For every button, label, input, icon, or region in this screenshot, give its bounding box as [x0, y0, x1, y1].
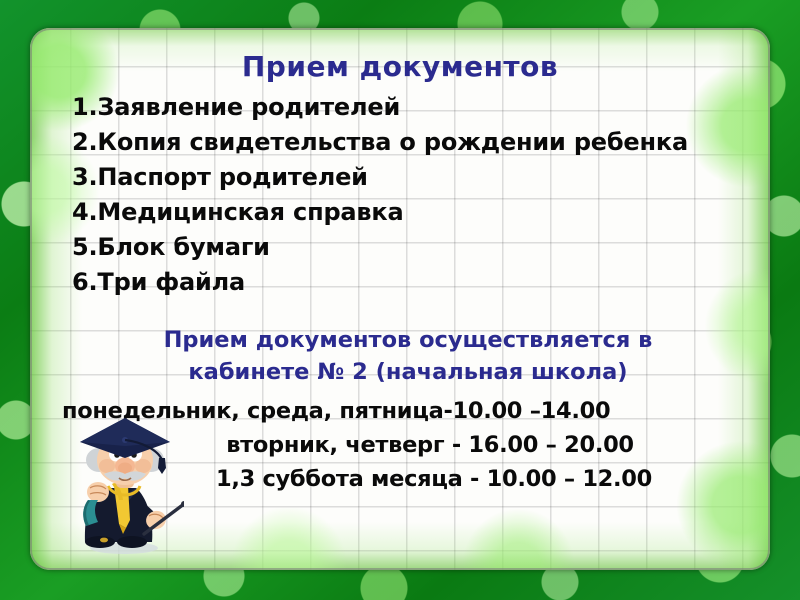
professor-graduate-icon [66, 416, 184, 556]
slide-canvas: Прием документов 1.Заявление родителей 2… [0, 0, 800, 600]
list-item: 1.Заявление родителей [72, 90, 760, 125]
slide-content: Прием документов 1.Заявление родителей 2… [30, 28, 770, 570]
documents-list: 1.Заявление родителей 2.Копия свидетельс… [72, 90, 760, 300]
notice-line-1: Прием документов осуществляется в [90, 324, 726, 356]
list-item: 5.Блок бумаги [72, 230, 760, 265]
grid-paper-panel: Прием документов 1.Заявление родителей 2… [30, 28, 770, 570]
notice-line-2: кабинете № 2 (начальная школа) [90, 356, 726, 388]
list-item: 6.Три файла [72, 265, 760, 300]
notice-block: Прием документов осуществляется в кабине… [90, 324, 726, 388]
list-item: 3.Паспорт родителей [72, 160, 760, 195]
list-item: 2.Копия свидетельства о рождении ребенка [72, 125, 760, 160]
list-item: 4.Медицинская справка [72, 195, 760, 230]
page-title: Прием документов [30, 50, 770, 83]
